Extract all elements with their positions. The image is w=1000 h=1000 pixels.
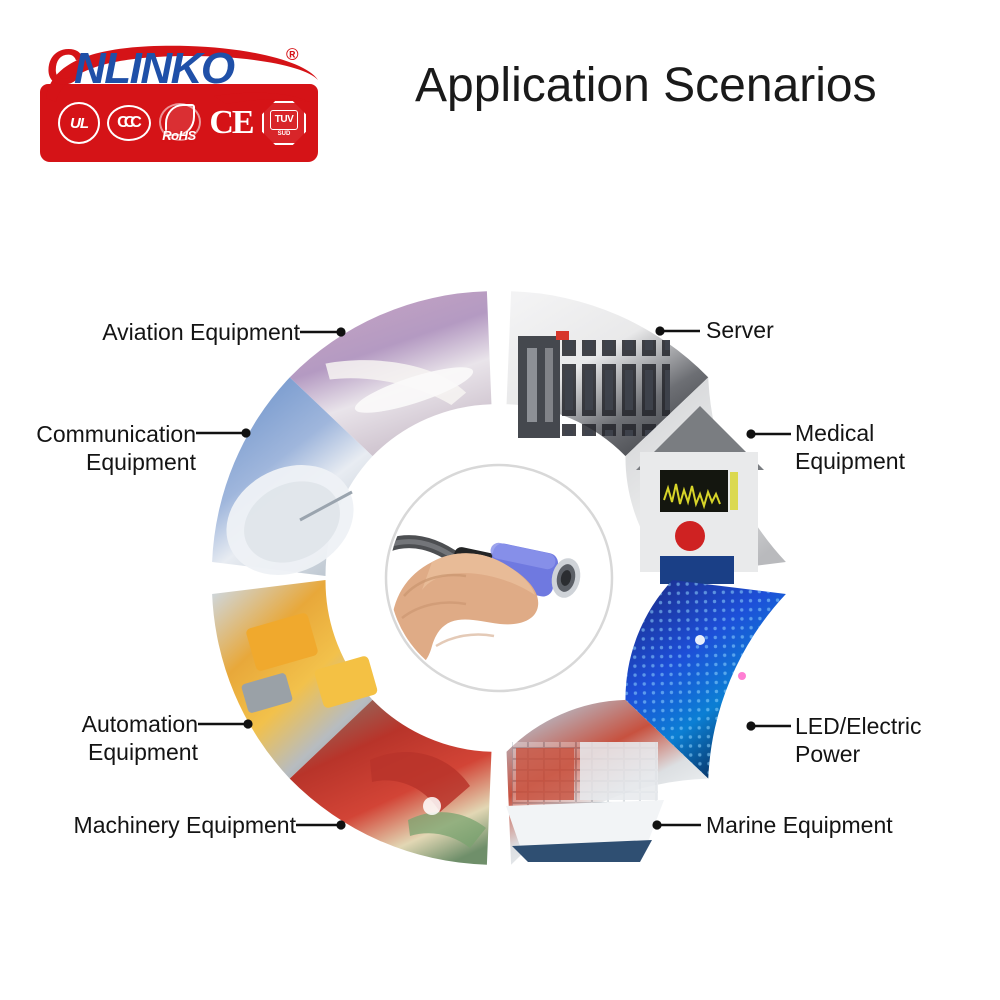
- label-aviation[interactable]: Aviation Equipment: [78, 318, 300, 346]
- label-marine[interactable]: Marine Equipment: [706, 811, 946, 839]
- rohs-badge-label: RoHS: [162, 128, 195, 143]
- leader-medical: [746, 429, 791, 438]
- application-scenarios-diagram: Aviation Equipment Communication Equipme…: [0, 0, 1000, 1000]
- leader-communication: [196, 428, 251, 437]
- label-machinery[interactable]: Machinery Equipment: [54, 811, 296, 839]
- label-led-power[interactable]: LED/Electric Power: [795, 712, 985, 768]
- leader-server: [655, 326, 700, 335]
- leader-aviation: [300, 327, 346, 336]
- leader-machinery: [296, 820, 346, 829]
- leader-automation: [198, 719, 253, 728]
- leader-marine: [652, 820, 701, 829]
- label-communication[interactable]: Communication Equipment: [24, 420, 196, 476]
- segmented-donut-chart: [0, 0, 1000, 1000]
- label-automation[interactable]: Automation Equipment: [68, 710, 198, 766]
- leader-led-power: [746, 721, 791, 730]
- label-server[interactable]: Server: [706, 316, 906, 344]
- label-medical[interactable]: Medical Equipment: [795, 419, 985, 475]
